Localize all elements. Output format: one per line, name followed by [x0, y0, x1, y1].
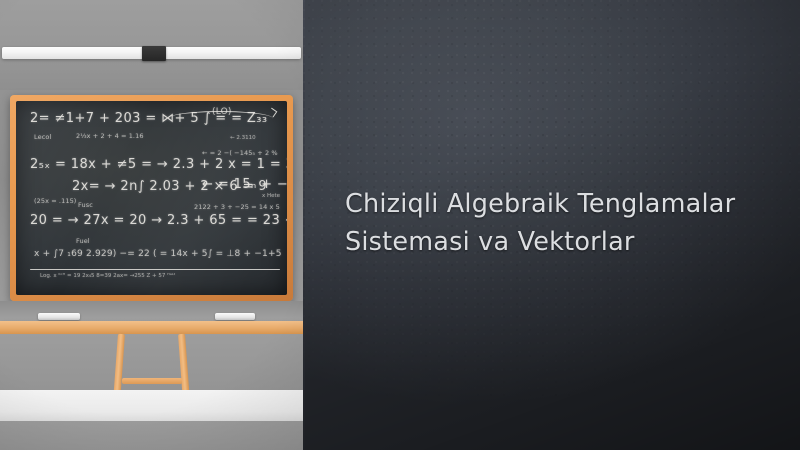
- easel-crossbar: [122, 378, 182, 384]
- chalk-line: x + ∫7 ₁69 2.929) −= 22 ( = 14x + 5∫ = ⊥…: [34, 249, 282, 259]
- chalk-line: Log. x ᴷᶜᴴ = 19 2x₄5 8=39 2ax= →255 Z + …: [40, 273, 175, 279]
- chalk-stick-left: [38, 313, 80, 320]
- slide-canvas: 2= ≠1+7 + 203 = ⋈+ 5 ∫ = = Z₃₃ (LO) Leco…: [0, 0, 800, 450]
- chalkboard-surface: 2= ≠1+7 + 203 = ⋈+ 5 ∫ = = Z₃₃ (LO) Leco…: [16, 101, 287, 295]
- desk-surface: [0, 321, 303, 334]
- title-panel: Chiziqli Algebraik Tenglamalar Sistemasi…: [303, 0, 800, 450]
- floor-dark-band: [0, 421, 303, 450]
- chalk-line: ← 2.3110: [230, 135, 256, 141]
- chalk-line: (25x = .115): [34, 197, 76, 205]
- chalk-line: ← = 2 −( −145₅ + 2 %: [202, 149, 278, 157]
- floor-light-band: [0, 390, 303, 421]
- chalkboard-frame: 2= ≠1+7 + 203 = ⋈+ 5 ∫ = = Z₃₃ (LO) Leco…: [10, 95, 293, 301]
- classroom-photo-panel: 2= ≠1+7 + 203 = ⋈+ 5 ∫ = = Z₃₃ (LO) Leco…: [0, 0, 303, 450]
- chalk-line: 2122 + 3 + −25 = 14 x 5: [194, 203, 280, 211]
- chalk-line: Fusc: [78, 201, 93, 209]
- ceiling-light-fixture-block: [142, 46, 166, 61]
- chalk-line: Fuel: [76, 237, 90, 245]
- chalk-line: ← = 15ₙ + −166: [202, 177, 287, 192]
- chalk-underline: [30, 269, 280, 270]
- chalk-line: (LO): [212, 107, 232, 117]
- classroom-wall-upper: [0, 0, 303, 90]
- chalk-line: 2₅ₓ = 18x + ≠5 = → 2.3 + 2 x = 1 = 3: [30, 157, 287, 172]
- chalk-stick-right: [215, 313, 255, 320]
- chalk-line: x Hete: [262, 193, 280, 199]
- chalk-line: 2⅓x + 2 + 4 = 1.16: [76, 132, 144, 140]
- chalk-line: Lecol: [34, 133, 51, 141]
- panel-seam: [303, 0, 305, 450]
- slide-title: Chiziqli Algebraik Tenglamalar Sistemasi…: [345, 185, 765, 261]
- chalk-line: 20 = → 27x = 20 → 2.3 + 65 = = 23 + 15x4…: [30, 213, 287, 228]
